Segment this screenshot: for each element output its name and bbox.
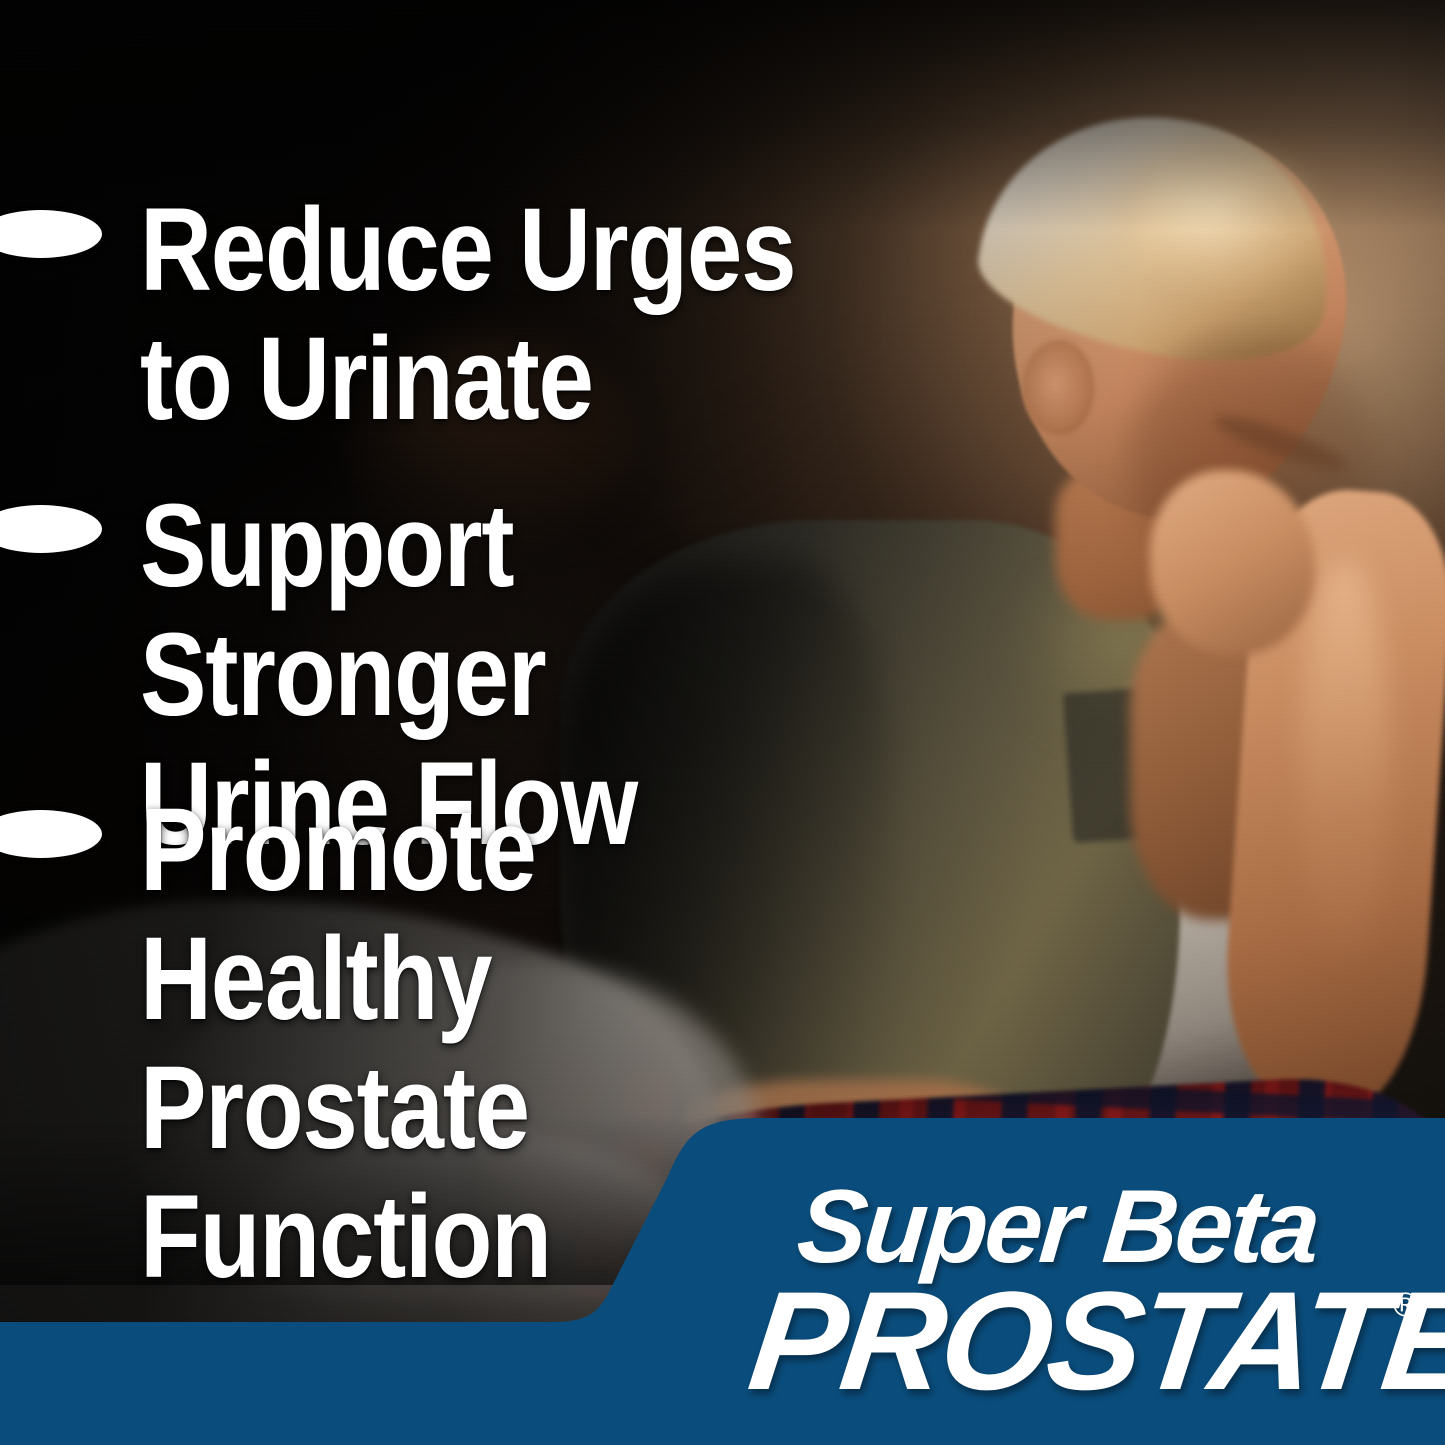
ad-banner: Reduce Urges to Urinate Support Stronger…: [0, 0, 1445, 1445]
ellipse-bullet-icon: [0, 505, 102, 553]
brand-logo: Super Beta PROSTATE: [760, 1175, 1420, 1405]
benefit-label-reduce-urges: Reduce Urges to Urinate: [140, 186, 795, 444]
registered-trademark-icon: ®: [1393, 1288, 1418, 1322]
brand-logo-line-2: PROSTATE: [743, 1271, 1445, 1411]
benefit-label-healthy-prostate: Promote Healthy Prostate Function: [140, 786, 867, 1302]
ellipse-bullet-icon: [0, 810, 102, 858]
ellipse-bullet-icon: [0, 210, 102, 258]
